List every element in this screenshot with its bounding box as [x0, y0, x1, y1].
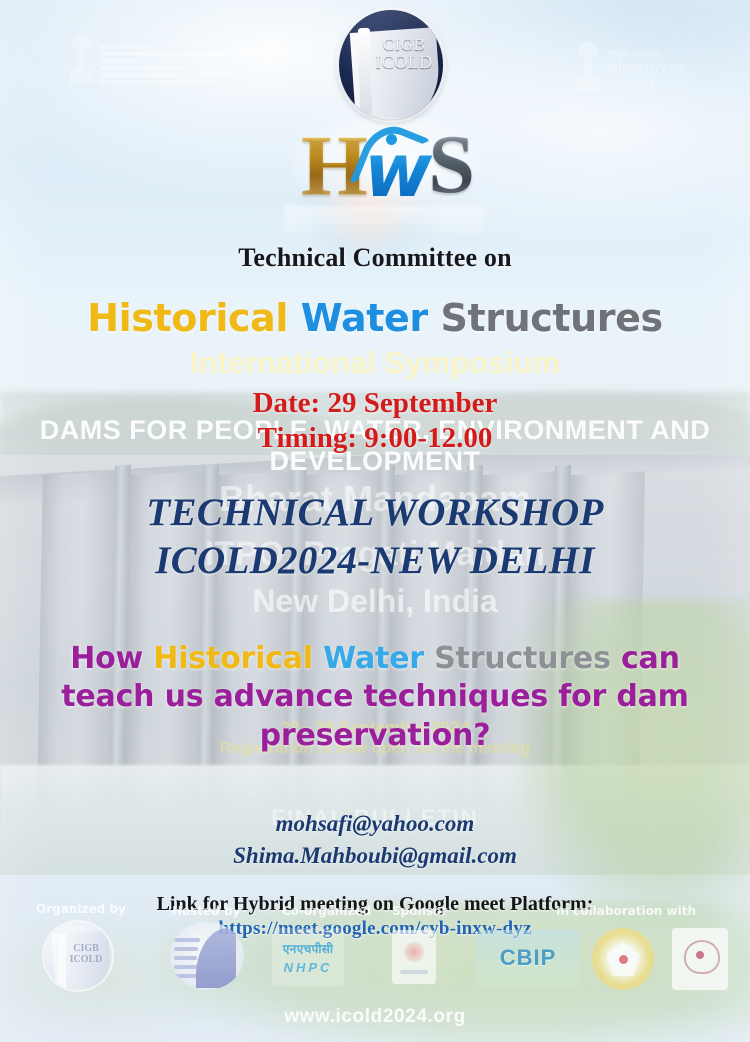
nhpc-english-label: NHPC	[284, 960, 333, 975]
contact-email-1[interactable]: mohsafi@yahoo.com	[0, 808, 750, 840]
workshop-title-line2: ICOLD2024-NEW DELHI	[0, 537, 750, 585]
event-timing: Timing: 9:00-12.00	[0, 421, 750, 456]
nhpc-hindi-label: एनएचपीसी	[283, 940, 334, 957]
partner-logo-emblem-round	[592, 928, 654, 990]
cbip-label: CBIP	[500, 945, 557, 971]
title-word-historical: Historical	[87, 296, 288, 340]
title-word-water: Water	[301, 296, 428, 340]
event-datetime-block: Date: 29 September Timing: 9:00-12.00	[0, 386, 750, 456]
poster-canvas: International Symposium DAMS FOR PEOPLE,…	[0, 0, 750, 1042]
question-space-2	[424, 641, 434, 676]
hws-logo: H w S	[268, 116, 508, 214]
hws-letter-s: S	[428, 123, 475, 207]
workshop-title-line1: TECHNICAL WORKSHOP	[0, 489, 750, 537]
partner-logo-host-dam	[170, 922, 244, 990]
ashoka-pillar-icon	[68, 32, 94, 84]
ministry-english-line1: MINISTRY OF	[608, 63, 688, 76]
ministry-of-power-text: विद्युत मंत्रालय MINISTRY OF POWER	[608, 40, 688, 98]
ministry-hindi-label: विद्युत मंत्रालय	[608, 47, 688, 61]
sponsor-label: Sponsor	[392, 904, 447, 918]
icold-logo-text: CIGB ICOLD	[373, 36, 435, 71]
workshop-title-block: TECHNICAL WORKSHOP ICOLD2024-NEW DELHI	[0, 489, 750, 585]
government-of-india-emblem	[68, 32, 258, 94]
question-word-structures: Structures	[434, 641, 611, 676]
cigb-icold-logo: CIGB ICOLD	[339, 10, 443, 120]
icold-logo-line-cigb: CIGB	[373, 36, 435, 53]
partner-logo-icold: CIGBICOLD	[44, 922, 112, 990]
question-space-1	[313, 641, 323, 676]
question-word-historical: Historical	[153, 641, 313, 676]
organized-by-label: Organized by	[36, 902, 126, 916]
collaboration-label: In collaboration with	[556, 904, 696, 918]
ministry-english-line2: POWER	[608, 78, 688, 91]
contact-email-2[interactable]: Shima.Mahboubi@gmail.com	[0, 840, 750, 872]
partner-logo-nhpc: एनएचपीसी NHPC	[272, 928, 344, 986]
icold-tower-icon	[358, 28, 372, 114]
emblem-text-lines	[100, 32, 248, 94]
ashoka-pillar-icon	[575, 40, 601, 92]
co-organized-label: Co-organized	[282, 904, 371, 918]
partner-logo-cbip: CBIP	[476, 930, 580, 986]
committee-subtitle: Technical Committee on	[0, 243, 750, 273]
water-droplet-icon	[386, 134, 397, 145]
partner-logo-sjvn	[392, 930, 436, 984]
question-word-water: Water	[323, 641, 424, 676]
hws-logo-reflection	[285, 206, 485, 240]
title-word-structures: Structures	[441, 296, 663, 340]
ministry-of-power-emblem: विद्युत मंत्रालय MINISTRY OF POWER	[575, 40, 725, 98]
page-title: Historical Water Structures	[0, 296, 750, 340]
question-prefix: How	[70, 641, 153, 676]
hosted-by-label: Hosted by	[172, 904, 240, 918]
partner-logo-emblem-shield	[672, 928, 728, 990]
partner-logo-row: Organized by Hosted by Co-organized Spon…	[0, 898, 750, 998]
icold-logo-line-icold: ICOLD	[373, 53, 435, 71]
event-date: Date: 29 September	[0, 386, 750, 421]
workshop-question: How Historical Water Structures can teac…	[40, 640, 710, 755]
contact-emails: mohsafi@yahoo.com Shima.Mahboubi@gmail.c…	[0, 808, 750, 871]
